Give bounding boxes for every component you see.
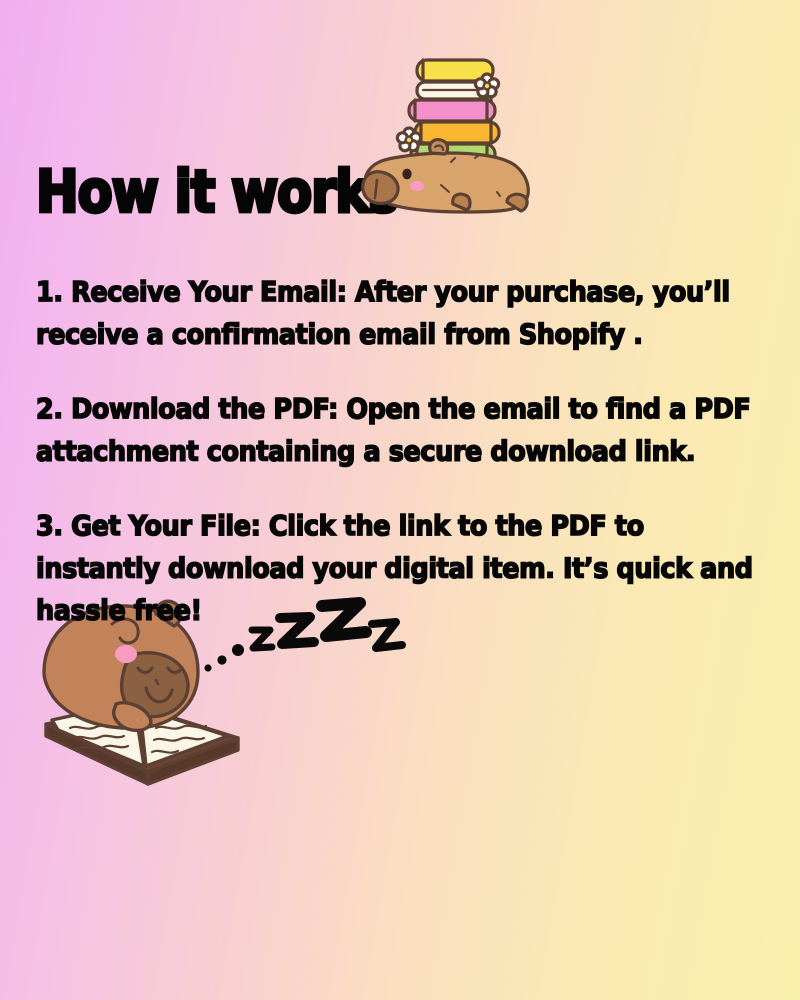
step-item-1: 1. Receive Your Email: After your purcha…: [36, 272, 766, 356]
zzz-glyph-1: [252, 630, 272, 648]
flower-icon-upper: [475, 74, 498, 97]
capybara-muzzle: [363, 172, 398, 204]
pink-book: [409, 100, 495, 121]
step-item-3: 3. Get Your File: Click the link to the …: [36, 506, 766, 632]
flower-icon-lower: [397, 128, 420, 151]
steps-list: 1. Receive Your Email: After your purcha…: [36, 272, 766, 623]
zzz-dot-2: [217, 655, 226, 664]
capybara-eye: [402, 169, 411, 180]
sleeping-capybara-cheek: [115, 645, 137, 663]
step-item-2: 2. Download the PDF: Open the email to f…: [36, 389, 766, 473]
capybara-cheek: [410, 181, 424, 191]
zzz-dot-3: [232, 644, 244, 656]
orange-book: [415, 122, 499, 143]
capybara-with-book-stack-svg: [355, 52, 555, 242]
page-title: How it works: [36, 158, 398, 225]
capybara-ear: [430, 140, 448, 154]
capybara-with-book-stack-illustration: [355, 52, 555, 242]
zzz-dot-1: [204, 664, 211, 671]
poster-canvas: How it works: [0, 0, 800, 1000]
